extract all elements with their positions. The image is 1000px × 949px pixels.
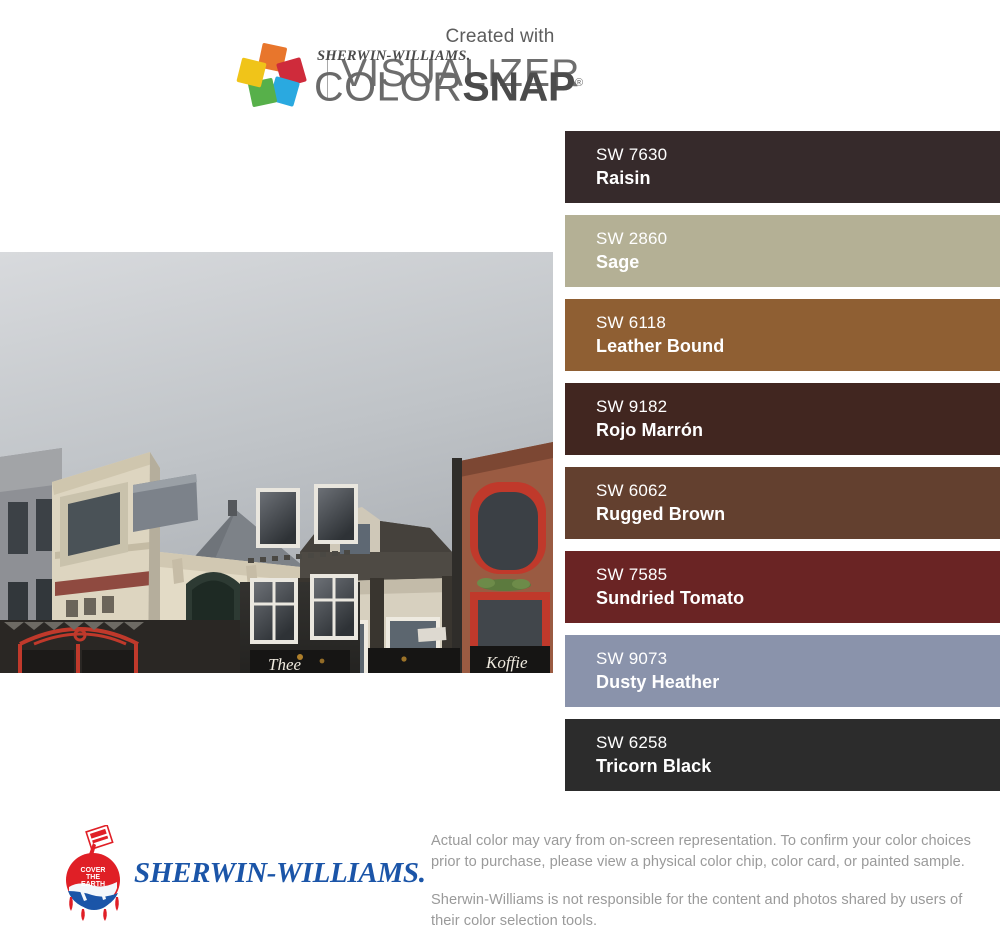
registered-trademark-icon: ® [575,77,583,89]
logo-tagline-cover: COVER [81,867,106,874]
swatch-code: SW 9073 [596,648,1000,670]
colorsnap-color-part: COLOR [314,64,462,110]
street-photo-amsterdam-canal-houses-icon: Thee Koffie [0,252,553,673]
color-swatch[interactable]: SW 7585 Sundried Tomato [565,551,1000,623]
page-footer: COVER THE EARTH SHERWIN-WILLIAMS. Actual… [0,810,1000,940]
project-photo: Thee Koffie [0,252,553,673]
color-swatch[interactable]: SW 9073 Dusty Heather [565,635,1000,707]
page-header: Created with SHERWIN-WILLIAMS. COLORSNAP… [0,0,1000,120]
color-swatch[interactable]: SW 6118 Leather Bound [565,299,1000,371]
disclaimer-paragraph-1: Actual color may vary from on-screen rep… [431,831,987,873]
shop-sign-koffie: Koffie [485,653,528,672]
swatch-code: SW 2860 [596,228,1000,250]
colorsnap-visualizer-brand-lockup: SHERWIN-WILLIAMS. COLORSNAP® VISUALIZER [236,44,764,106]
swatch-code: SW 9182 [596,396,1000,418]
color-swatch-list: SW 7630 Raisin SW 2860 Sage SW 6118 Leat… [565,131,1000,803]
swatch-code: SW 6118 [596,312,1000,334]
swatch-name: Dusty Heather [596,670,1000,694]
disclaimer-paragraph-2: Sherwin-Williams is not responsible for … [431,890,987,932]
color-swatch[interactable]: SW 6062 Rugged Brown [565,467,1000,539]
sherwin-williams-logo: COVER THE EARTH SHERWIN-WILLIAMS. [62,824,382,926]
swatch-name: Sage [596,250,1000,274]
color-swatch[interactable]: SW 2860 Sage [565,215,1000,287]
swatch-name: Raisin [596,166,1000,190]
swatch-name: Sundried Tomato [596,586,1000,610]
swatch-name: Tricorn Black [596,754,1000,778]
disclaimer-block: Actual color may vary from on-screen rep… [431,831,987,949]
color-swatch[interactable]: SW 9182 Rojo Marrón [565,383,1000,455]
swatch-code: SW 6062 [596,480,1000,502]
swatch-code: SW 6258 [596,732,1000,754]
swatch-name: Rojo Marrón [596,418,1000,442]
colorsnap-pinwheel-icon [236,45,308,105]
color-swatch[interactable]: SW 7630 Raisin [565,131,1000,203]
sherwin-williams-wordmark: SHERWIN-WILLIAMS. [134,857,426,894]
swatch-name: Leather Bound [596,334,1000,358]
shop-sign-thee: Thee [268,655,302,673]
swatch-code: SW 7585 [596,564,1000,586]
logo-tagline-earth: EARTH [81,881,105,888]
colorsnap-snap-part: SNAP [462,64,575,110]
sherwin-williams-cover-the-earth-icon: COVER THE EARTH [62,825,124,925]
swatch-code: SW 7630 [596,144,1000,166]
colorsnap-title: COLORSNAP® [314,63,583,108]
logo-tagline-the: THE [86,874,100,881]
swatch-name: Rugged Brown [596,502,1000,526]
color-swatch[interactable]: SW 6258 Tricorn Black [565,719,1000,791]
